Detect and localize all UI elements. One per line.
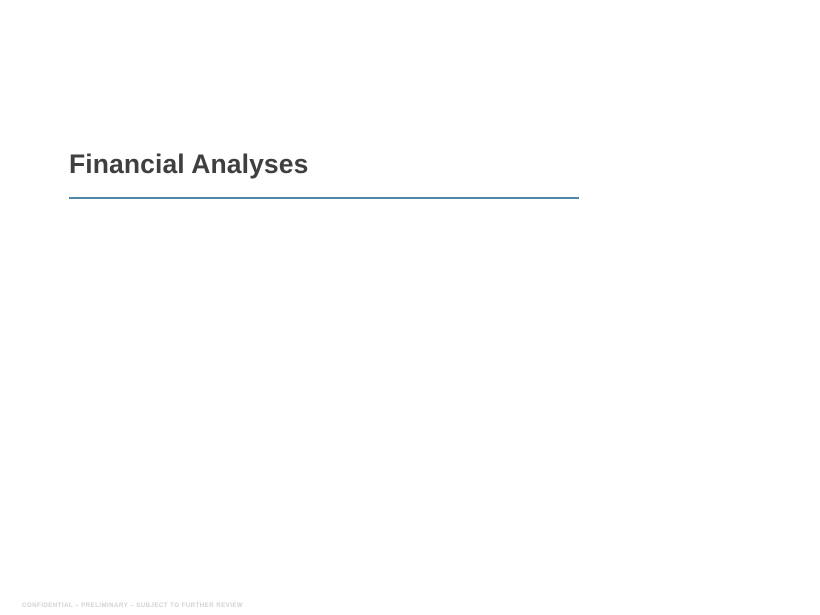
section-title-block: Financial Analyses bbox=[69, 148, 579, 180]
title-underline-rule bbox=[69, 197, 579, 199]
page-title: Financial Analyses bbox=[69, 148, 579, 180]
slide-body-content bbox=[69, 215, 751, 575]
footer-disclaimer: CONFIDENTIAL – PRELIMINARY – SUBJECT TO … bbox=[22, 601, 243, 610]
presentation-slide: Financial Analyses CONFIDENTIAL – PRELIM… bbox=[0, 0, 820, 615]
